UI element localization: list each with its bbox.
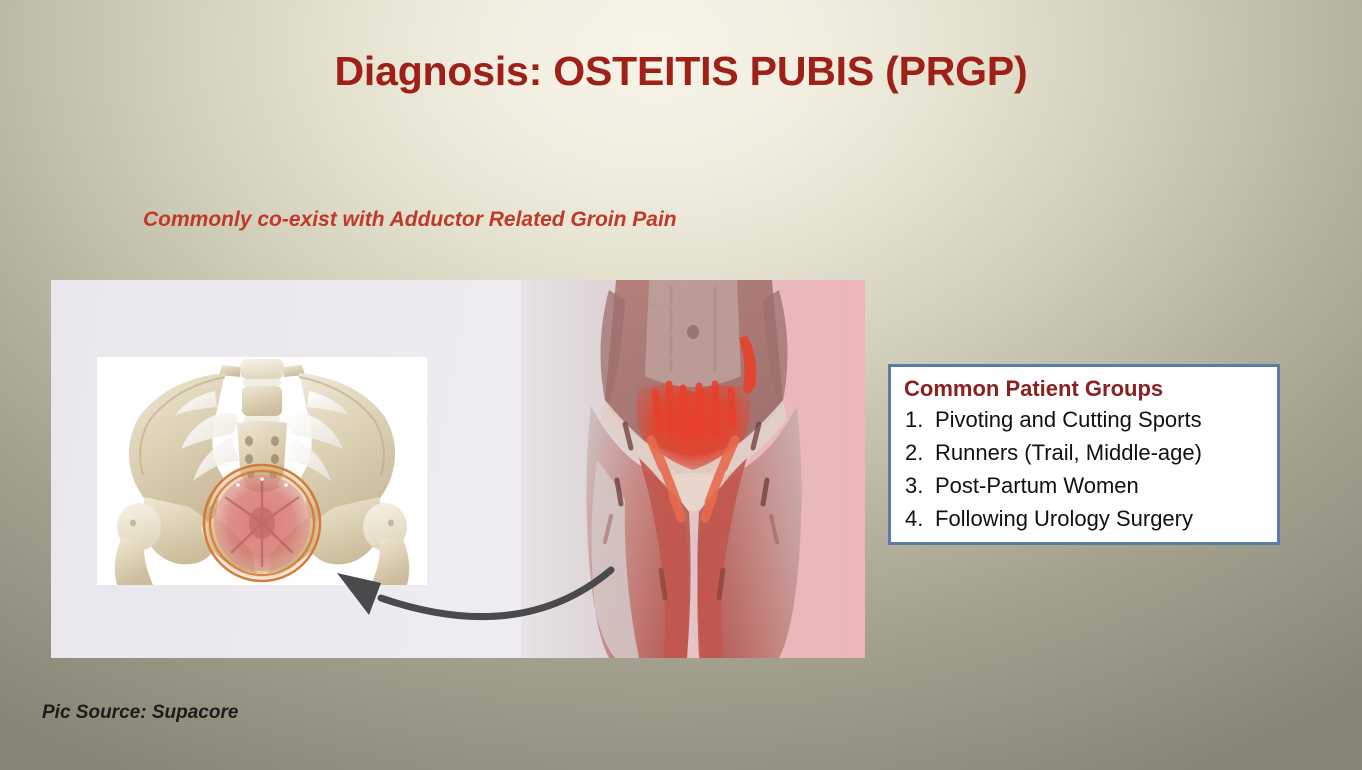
anatomy-figure-panel: [51, 280, 865, 658]
patient-groups-list: 1. Pivoting and Cutting Sports 2. Runner…: [891, 403, 1277, 535]
list-item-number: 4.: [891, 502, 935, 535]
common-patient-groups-callout: Common Patient Groups 1. Pivoting and Cu…: [888, 364, 1280, 545]
groups-heading: Common Patient Groups: [904, 376, 1277, 402]
list-item-label: Pivoting and Cutting Sports: [935, 403, 1202, 436]
pelvis-illustration-svg: [97, 357, 427, 585]
list-item-label: Following Urology Surgery: [935, 502, 1193, 535]
pubic-symphysis-highlight-circle: [204, 465, 320, 581]
page-title: Diagnosis: OSTEITIS PUBIS (PRGP): [0, 48, 1362, 95]
picture-source-credit: Pic Source: Supacore: [42, 702, 238, 724]
pelvis-bone-anatomy-illustration: [97, 357, 427, 585]
pelvis-image-mat: [51, 280, 521, 658]
groin-adductor-muscle-anatomy-illustration: [521, 280, 865, 658]
list-item: 3. Post-Partum Women: [891, 469, 1277, 502]
slide-canvas: Diagnosis: OSTEITIS PUBIS (PRGP) Commonl…: [0, 0, 1362, 770]
slide-subtitle: Commonly co-exist with Adductor Related …: [143, 208, 677, 232]
list-item: 1. Pivoting and Cutting Sports: [891, 403, 1277, 436]
list-item-label: Post-Partum Women: [935, 469, 1139, 502]
muscle-illustration-svg: [521, 280, 865, 658]
list-item-number: 1.: [891, 403, 935, 436]
list-item-number: 3.: [891, 469, 935, 502]
list-item-number: 2.: [891, 436, 935, 469]
list-item: 4. Following Urology Surgery: [891, 502, 1277, 535]
list-item: 2. Runners (Trail, Middle-age): [891, 436, 1277, 469]
list-item-label: Runners (Trail, Middle-age): [935, 436, 1202, 469]
